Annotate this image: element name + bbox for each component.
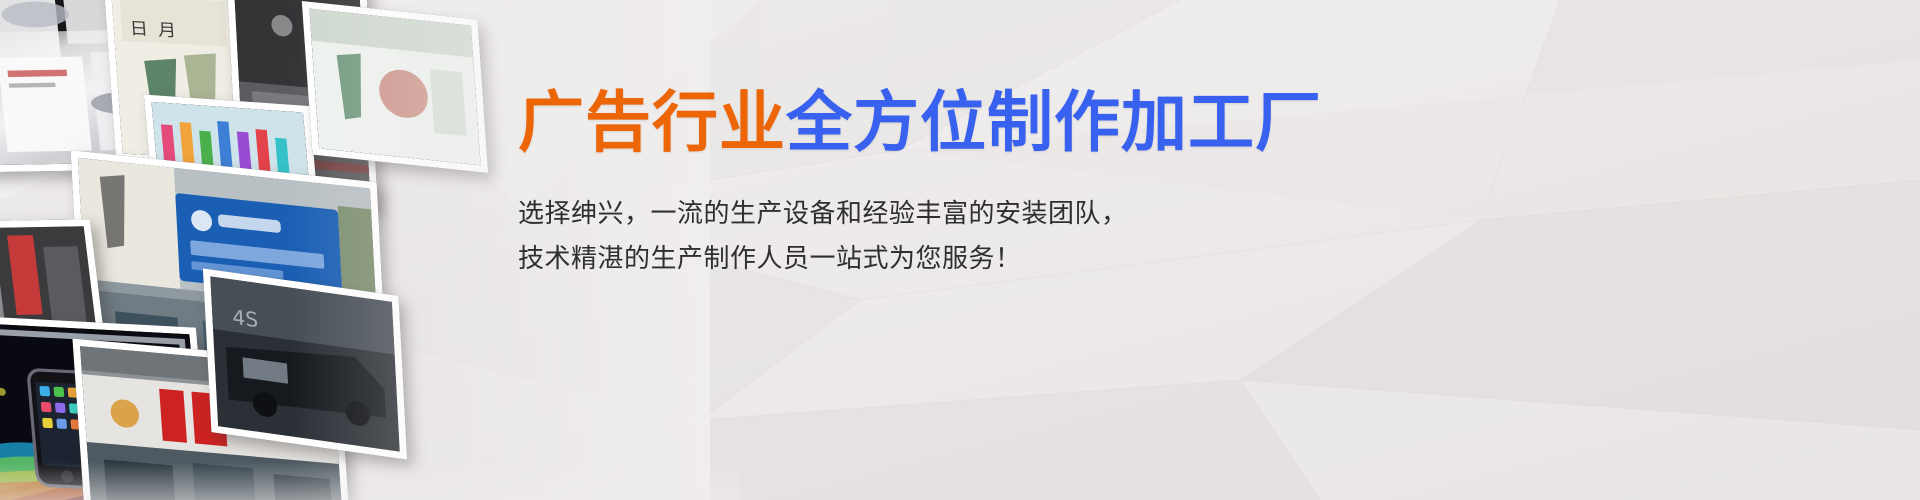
banner-text-block: 广告行业全方位制作加工厂 选择绅兴，一流的生产设备和经验丰富的安装团队， 技术精…: [518, 88, 1278, 283]
svg-text:日: 日: [129, 19, 148, 39]
svg-text:4S: 4S: [232, 305, 259, 333]
subtitle-line-1: 选择绅兴，一流的生产设备和经验丰富的安装团队，: [518, 192, 1278, 238]
headline-blue-part: 全方位制作加工厂: [786, 84, 1322, 161]
promo-banner: 日 月: [0, 0, 1920, 500]
svg-text:月: 月: [157, 21, 176, 41]
photo-vehicle-wrap: 4S: [203, 268, 407, 459]
headline-orange-part: 广告行业: [518, 84, 786, 161]
page-title: 广告行业全方位制作加工厂: [518, 88, 1278, 158]
subtitle-line-2: 技术精湛的生产制作人员一站式为您服务！: [518, 237, 1278, 283]
banner-subtitle: 选择绅兴，一流的生产设备和经验丰富的安装团队， 技术精湛的生产制作人员一站式为您…: [518, 158, 1278, 283]
photo-design-wall: [302, 1, 488, 173]
